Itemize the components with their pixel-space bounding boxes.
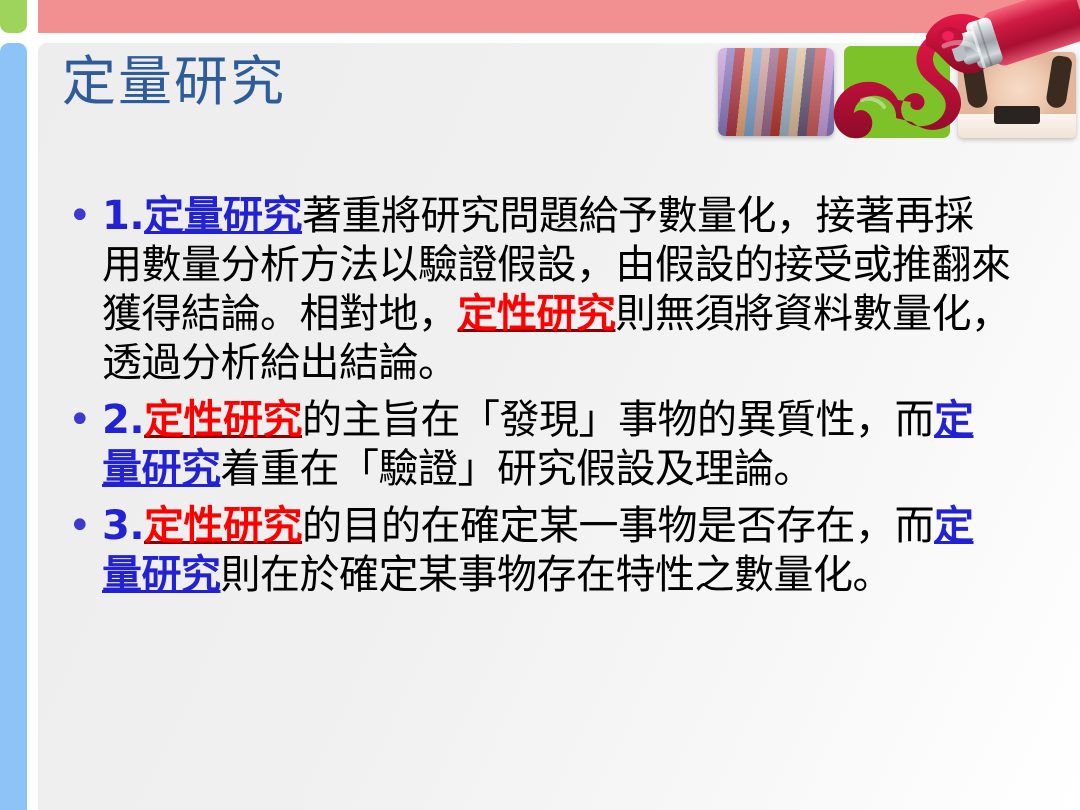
keyword-qualitative: 定性研究 [458,291,616,337]
keyword-qualitative: 定性研究 [144,397,302,443]
keyword-quantitative: 定量研究 [144,193,302,239]
green-corner-tab [0,0,27,33]
body-text: 的主旨在「發現」事物的異質性，而 [302,397,934,443]
body-text: 則在於確定某事物存在特性之數量化。 [221,552,893,598]
list-item-number: 3. [102,503,144,549]
body-text: 着重在「驗證」研究假設及理論。 [221,446,814,492]
top-red-banner [38,0,1080,33]
keyword-qualitative: 定性研究 [144,503,302,549]
list-item-number: 1. [102,193,144,239]
list-item-text: 2.定性研究的主旨在「發現」事物的異質性，而定量研究着重在「驗證」研究假設及理論… [102,396,1012,494]
list-item-number: 2. [102,397,144,443]
list-item-text: 3.定性研究的目的在確定某一事物是否存在，而定量研究則在於確定某事物存在特性之數… [102,502,1012,600]
presentation-slide: 定量研究 [0,0,1080,810]
list-item: •3.定性研究的目的在確定某一事物是否存在，而定量研究則在於確定某事物存在特性之… [62,502,1012,600]
bullet-list: •1.定量研究著重將研究問題給予數量化，接著再採用數量分析方法以驗證假設，由假設… [62,192,1012,608]
bullet-dot-icon: • [62,396,102,445]
list-item-text: 1.定量研究著重將研究問題給予數量化，接著再採用數量分析方法以驗證假設，由假設的… [102,192,1012,388]
list-item: •1.定量研究著重將研究問題給予數量化，接著再採用數量分析方法以驗證假設，由假設… [62,192,1012,388]
list-item: •2.定性研究的主旨在「發現」事物的異質性，而定量研究着重在「驗證」研究假設及理… [62,396,1012,494]
bullet-dot-icon: • [62,192,102,241]
bullet-dot-icon: • [62,502,102,551]
blue-side-strip [0,43,27,810]
page-title: 定量研究 [62,52,286,111]
body-text: 的目的在確定某一事物是否存在，而 [302,503,934,549]
